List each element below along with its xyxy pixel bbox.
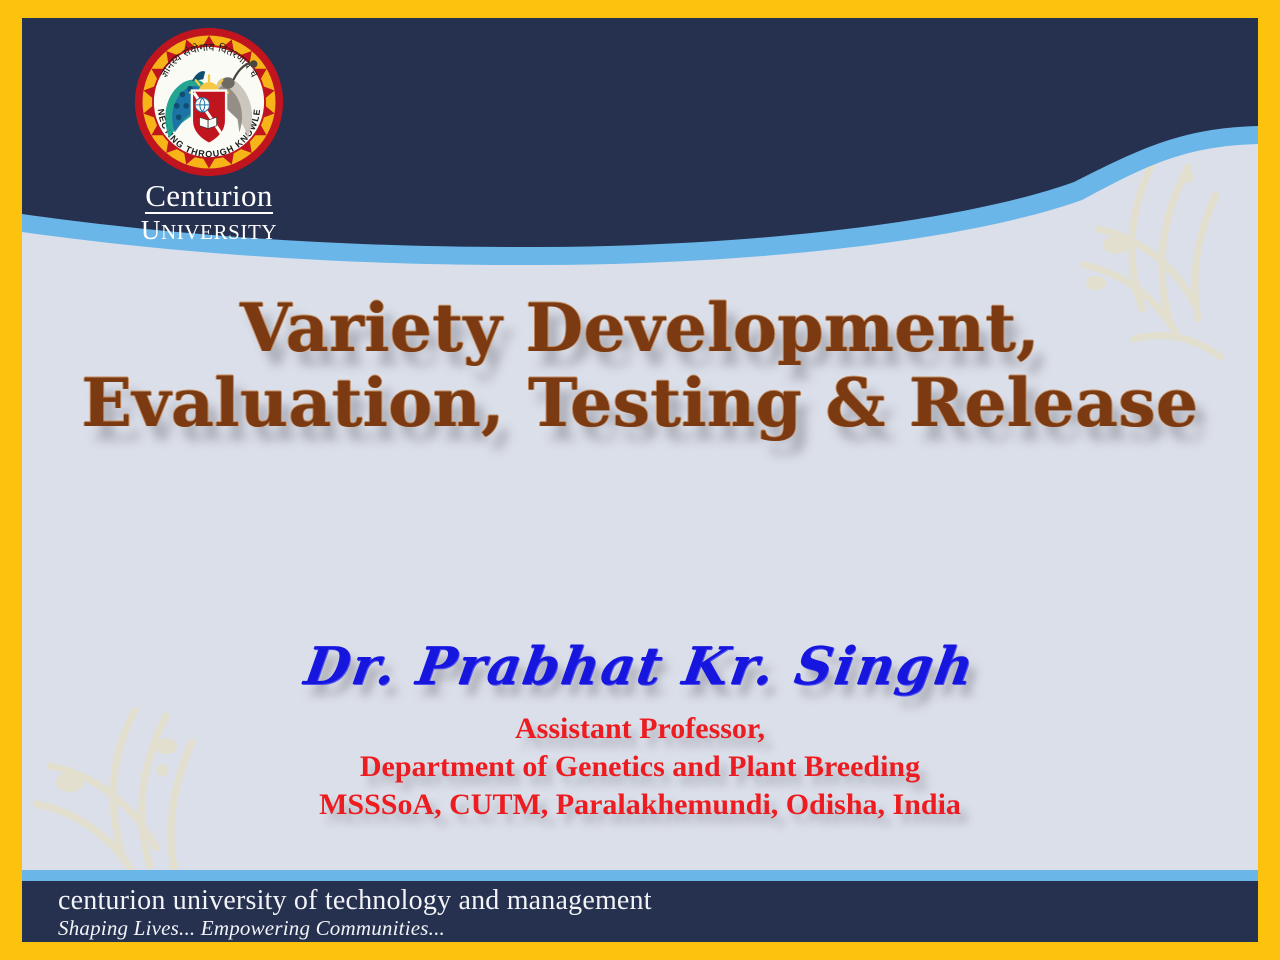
footer-text: centurion university of technology and m… [58, 884, 652, 941]
title-line-2: Evaluation, Testing & Release [22, 368, 1258, 439]
affiliation-line: Department of Genetics and Plant Breedin… [22, 748, 1258, 786]
logo-wordmark-line1: Centurion [145, 180, 273, 214]
affiliation-line: MSSSoA, CUTM, Paralakhemundi, Odisha, In… [22, 786, 1258, 824]
logo-wordmark: Centurion UNIVERSITY [114, 180, 304, 244]
affiliation-line: Assistant Professor, [22, 710, 1258, 748]
footer-accent-strip [22, 870, 1258, 881]
slide-root: ज्ञानस्य संयोगाय वितरणाय च CONNECTING TH… [0, 0, 1280, 960]
presenter-name: Dr. Prabhat Kr. Singh [22, 636, 1258, 697]
slide-canvas: ज्ञानस्य संयोगाय वितरणाय च CONNECTING TH… [22, 18, 1258, 942]
footer-tagline: Shaping Lives... Empowering Communities.… [58, 917, 652, 941]
page-title: Variety Development, Evaluation, Testing… [22, 293, 1258, 440]
logo-wordmark-line2: UNIVERSITY [114, 217, 304, 244]
footer-organization: centurion university of technology and m… [58, 884, 652, 917]
title-line-1: Variety Development, [22, 293, 1258, 364]
footer-bar: centurion university of technology and m… [22, 881, 1258, 942]
university-crest-icon: ज्ञानस्य संयोगाय वितरणाय च CONNECTING TH… [130, 26, 288, 178]
university-logo: ज्ञानस्य संयोगाय वितरणाय च CONNECTING TH… [114, 26, 304, 244]
presenter-affiliation: Assistant Professor, Department of Genet… [22, 710, 1258, 824]
